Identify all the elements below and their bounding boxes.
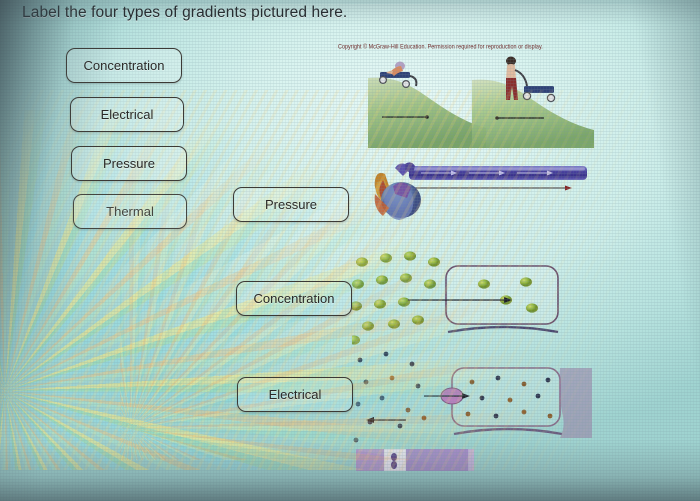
answer-tile-concentration[interactable]: Concentration <box>66 48 182 83</box>
drop-target-pressure[interactable]: Pressure <box>233 187 349 222</box>
copyright-notice: Copyright © McGraw-Hill Education. Permi… <box>338 44 543 51</box>
page-title: Label the four types of gradients pictur… <box>22 4 347 22</box>
drop-target-electrical[interactable]: Electrical <box>237 377 353 412</box>
illustration-electrical-gradient <box>352 348 597 460</box>
illustration-concentration-gradient <box>352 248 597 358</box>
photographed-screen: Label the four types of gradients pictur… <box>0 0 700 501</box>
illustration-tissue-section-strip <box>356 449 474 471</box>
illustration-hills-with-carts <box>368 52 600 148</box>
drop-target-concentration[interactable]: Concentration <box>236 281 352 316</box>
illustration-heart-and-blood-vessel <box>365 158 595 250</box>
answer-tile-thermal[interactable]: Thermal <box>73 194 187 229</box>
answer-tile-electrical[interactable]: Electrical <box>70 97 184 132</box>
answer-tile-pressure[interactable]: Pressure <box>71 146 187 181</box>
